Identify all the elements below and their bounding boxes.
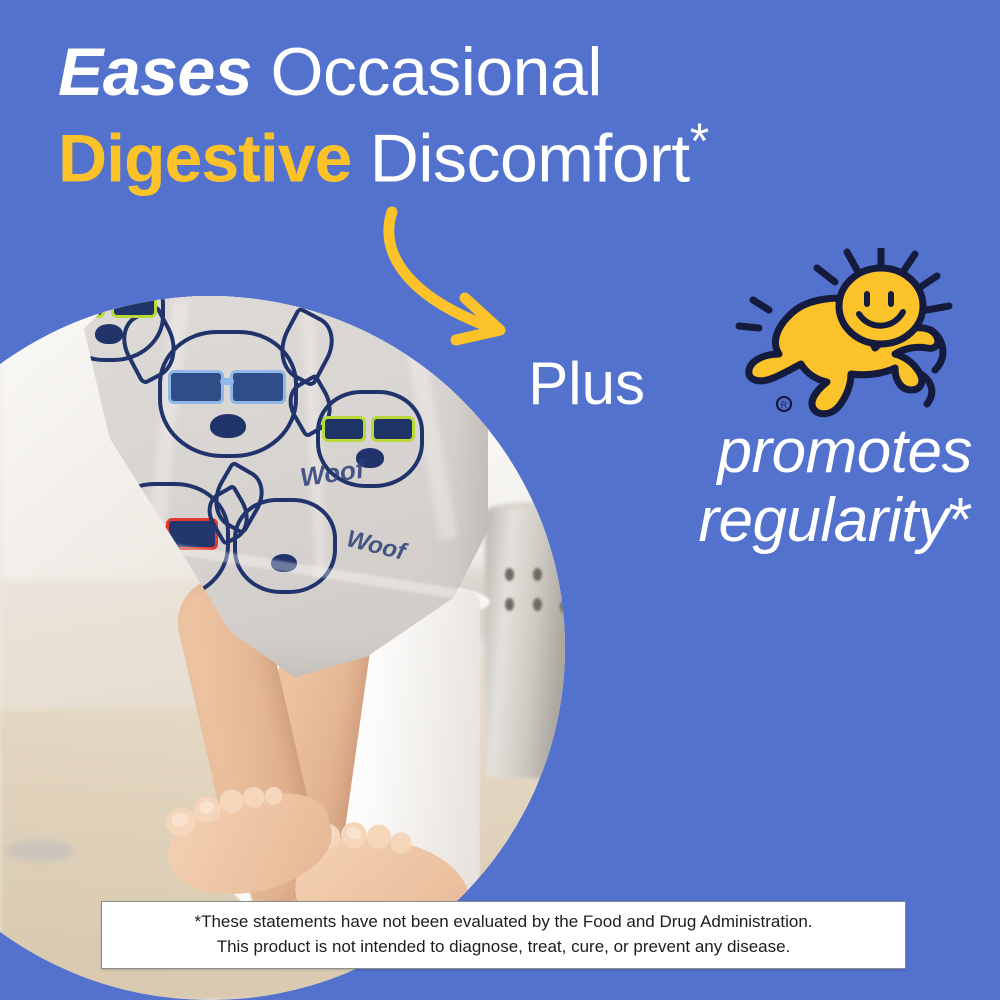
headline-occasional: Occasional <box>271 34 602 110</box>
trash-can-hole <box>505 598 514 611</box>
trash-can-hole <box>505 568 514 581</box>
headline-asterisk: * <box>690 113 709 169</box>
headline-digestive: Digestive <box>58 121 351 197</box>
headline-line-1: Eases Occasional <box>58 38 958 106</box>
disclaimer-line-2: This product is not intended to diagnose… <box>217 935 791 960</box>
floor-drain <box>5 840 75 862</box>
headline: Eases Occasional Digestive Discomfort* <box>58 38 958 193</box>
fda-disclaimer-box: *These statements have not been evaluate… <box>101 901 906 969</box>
callout-regularity-line: regularity* <box>0 486 990 555</box>
curved-down-right-arrow-icon <box>360 190 560 355</box>
promo-banner: Woof Woof Eases Occasional Digestive Dis… <box>0 0 1000 1000</box>
headline-eases: Eases <box>58 34 252 110</box>
headline-line-2: Digestive Discomfort* <box>58 116 958 193</box>
headline-discomfort: Discomfort <box>370 121 690 197</box>
callout-promotes: promotes <box>0 417 990 486</box>
trash-can-hole <box>560 570 569 583</box>
trash-can-hole <box>533 568 542 581</box>
callout-asterisk: * <box>948 486 972 555</box>
callout-plus: Plus <box>0 352 990 417</box>
trash-can-hole <box>533 598 542 611</box>
disclaimer-line-1: *These statements have not been evaluate… <box>194 910 812 935</box>
callout-regularity: regularity <box>698 486 948 555</box>
callout-copy: Plus promotes regularity* <box>0 352 1000 556</box>
trash-can-hole <box>560 600 569 613</box>
